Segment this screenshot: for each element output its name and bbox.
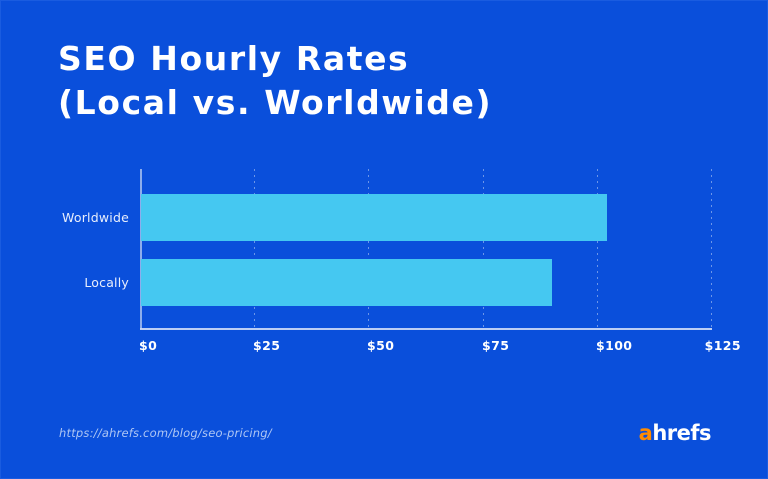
ahrefs-logo[interactable]: ahrefs — [639, 421, 711, 445]
x-tick-125: $125 — [705, 338, 741, 353]
source-url[interactable]: https://ahrefs.com/blog/seo-pricing/ — [59, 426, 272, 440]
x-tick-0: $0 — [139, 338, 157, 353]
infographic-canvas: SEO Hourly Rates (Local vs. Worldwide) W… — [0, 0, 768, 479]
bar-locally[interactable] — [141, 259, 552, 306]
category-label-locally: Locally — [84, 275, 129, 290]
x-tick-25: $25 — [253, 338, 280, 353]
gridline-125 — [711, 169, 712, 329]
logo-wordmark: hrefs — [652, 421, 711, 445]
category-label-worldwide: Worldwide — [62, 210, 129, 225]
logo-accent-letter: a — [639, 421, 653, 445]
bar-chart: WorldwideLocally $0$25$50$75$100$125 — [1, 1, 768, 401]
x-tick-75: $75 — [482, 338, 509, 353]
x-tick-50: $50 — [367, 338, 394, 353]
x-axis-line — [140, 328, 712, 330]
bar-worldwide[interactable] — [141, 194, 607, 241]
x-tick-100: $100 — [596, 338, 632, 353]
gridline-100 — [597, 169, 598, 329]
